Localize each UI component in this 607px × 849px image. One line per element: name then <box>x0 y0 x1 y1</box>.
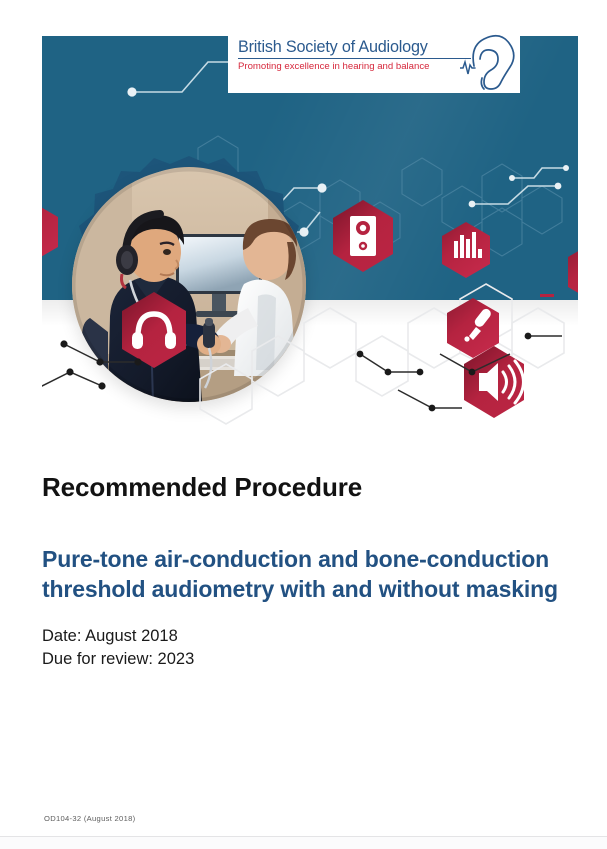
document-type-heading: Recommended Procedure <box>42 470 582 504</box>
bsa-logo: British Society of Audiology Promoting e… <box>228 31 520 93</box>
review-line: Due for review: 2023 <box>42 648 582 671</box>
date-line: Date: August 2018 <box>42 625 582 648</box>
hexagon-icon-cluster <box>42 36 578 436</box>
footer-band <box>0 837 607 849</box>
document-cover-page: British Society of Audiology Promoting e… <box>0 0 607 849</box>
headphones-hexagon <box>122 292 186 368</box>
document-dates: Date: August 2018 Due for review: 2023 <box>42 625 582 671</box>
equalizer-hexagon <box>442 222 490 278</box>
document-reference-code: OD104-32 (August 2018) <box>44 814 135 823</box>
document-title: Pure-tone air-conduction and bone-conduc… <box>42 544 587 604</box>
logo-divider <box>238 58 471 59</box>
audiometer-hexagon <box>333 200 393 272</box>
cover-text-block: Recommended Procedure Pure-tone air-cond… <box>42 470 582 671</box>
ear-icon <box>460 32 518 92</box>
